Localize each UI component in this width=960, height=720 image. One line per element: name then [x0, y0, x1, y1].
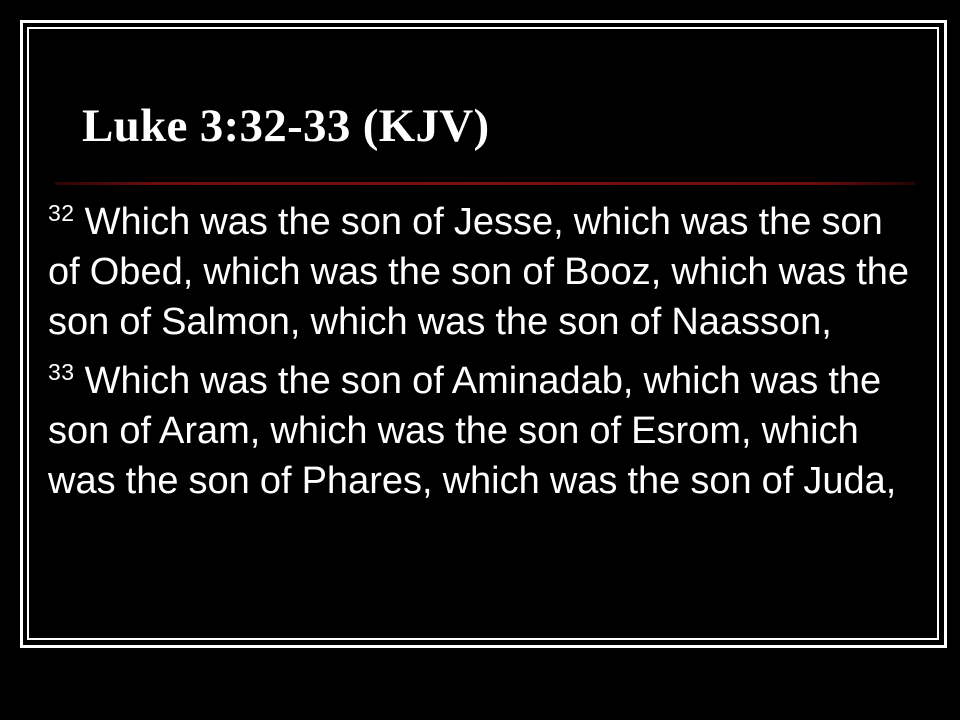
- verse-text: Which was the son of Jesse, which was th…: [48, 201, 909, 343]
- verse-text: Which was the son of Aminadab, which was…: [48, 360, 896, 502]
- verse-number: 33: [48, 359, 75, 385]
- title-block: Luke 3:32-33 (KJV): [48, 96, 916, 156]
- scripture-body: 32 Which was the son of Jesse, which was…: [48, 197, 920, 506]
- page-title: Luke 3:32-33 (KJV): [48, 96, 916, 156]
- title-divider-rule: [55, 182, 915, 185]
- verse-number: 32: [48, 200, 75, 226]
- scripture-slide: Luke 3:32-33 (KJV) 32 Which was the son …: [0, 0, 960, 720]
- verse-paragraph: 32 Which was the son of Jesse, which was…: [48, 197, 920, 347]
- verse-paragraph: 33 Which was the son of Aminadab, which …: [48, 356, 920, 506]
